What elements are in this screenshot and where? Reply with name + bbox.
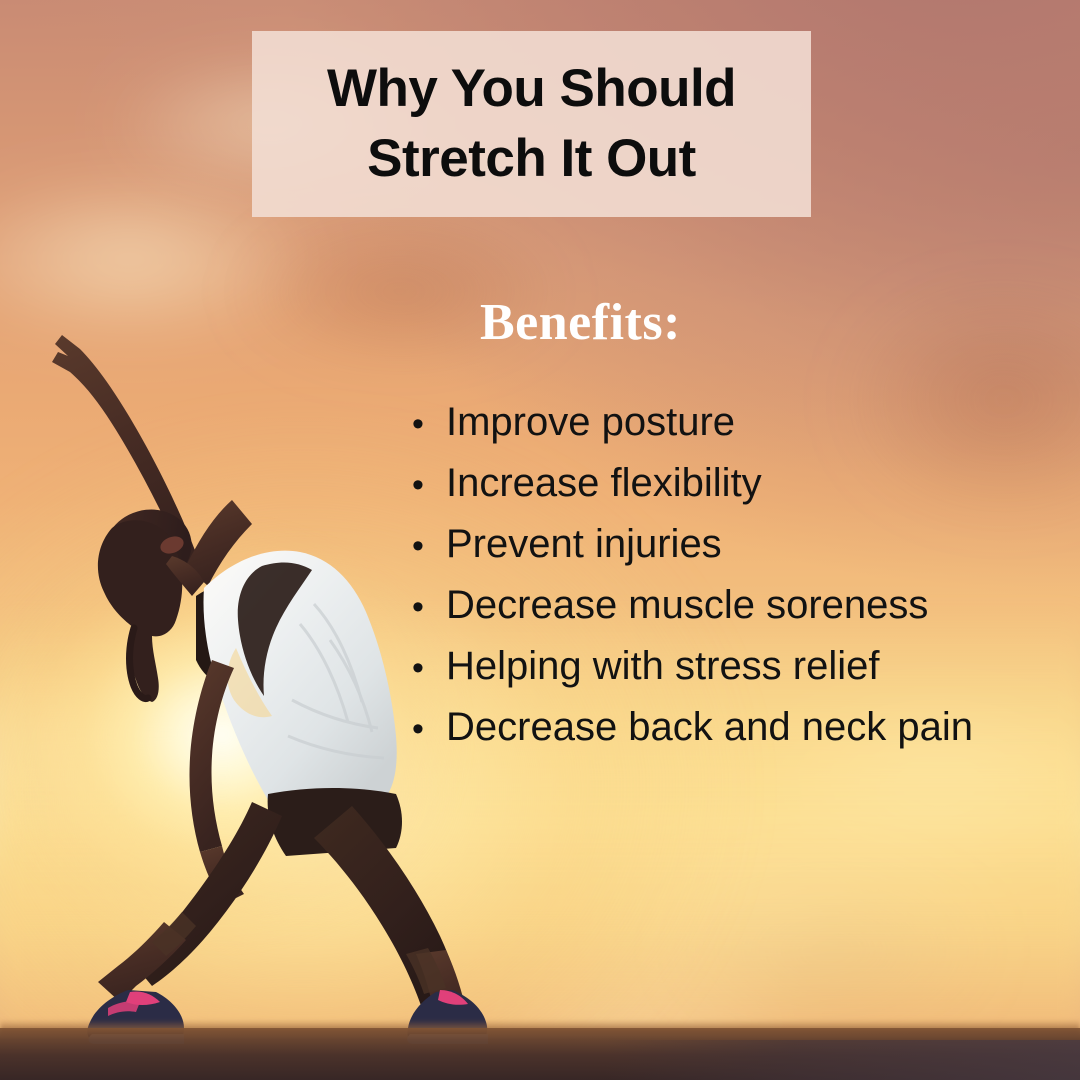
benefit-label: Decrease back and neck pain xyxy=(446,697,973,758)
benefit-label: Prevent injuries xyxy=(446,514,722,575)
list-item: • Decrease back and neck pain xyxy=(412,697,973,758)
title-panel: Why You Should Stretch It Out xyxy=(252,31,811,217)
bullet-icon: • xyxy=(412,577,446,638)
sun-glow xyxy=(0,518,470,950)
benefit-label: Improve posture xyxy=(446,392,735,453)
bullet-icon: • xyxy=(412,516,446,577)
benefit-label: Helping with stress relief xyxy=(446,636,880,697)
list-item: • Improve posture xyxy=(412,392,973,453)
bullet-icon: • xyxy=(412,394,446,455)
list-item: • Helping with stress relief xyxy=(412,636,973,697)
ground-shadow xyxy=(605,1040,1080,1080)
benefit-label: Decrease muscle soreness xyxy=(446,575,928,636)
benefits-list: • Improve posture • Increase flexibility… xyxy=(412,392,973,758)
benefits-heading: Benefits: xyxy=(480,297,681,349)
stretching-benefits-poster: Why You Should Stretch It Out Benefits: … xyxy=(0,0,1080,1080)
bullet-icon: • xyxy=(412,638,446,699)
list-item: • Prevent injuries xyxy=(412,514,973,575)
title-line-1: Why You Should xyxy=(327,55,736,123)
benefit-label: Increase flexibility xyxy=(446,453,762,514)
bullet-icon: • xyxy=(412,455,446,516)
list-item: • Decrease muscle soreness xyxy=(412,575,973,636)
bullet-icon: • xyxy=(412,699,446,760)
list-item: • Increase flexibility xyxy=(412,453,973,514)
title-line-2: Stretch It Out xyxy=(367,125,696,193)
